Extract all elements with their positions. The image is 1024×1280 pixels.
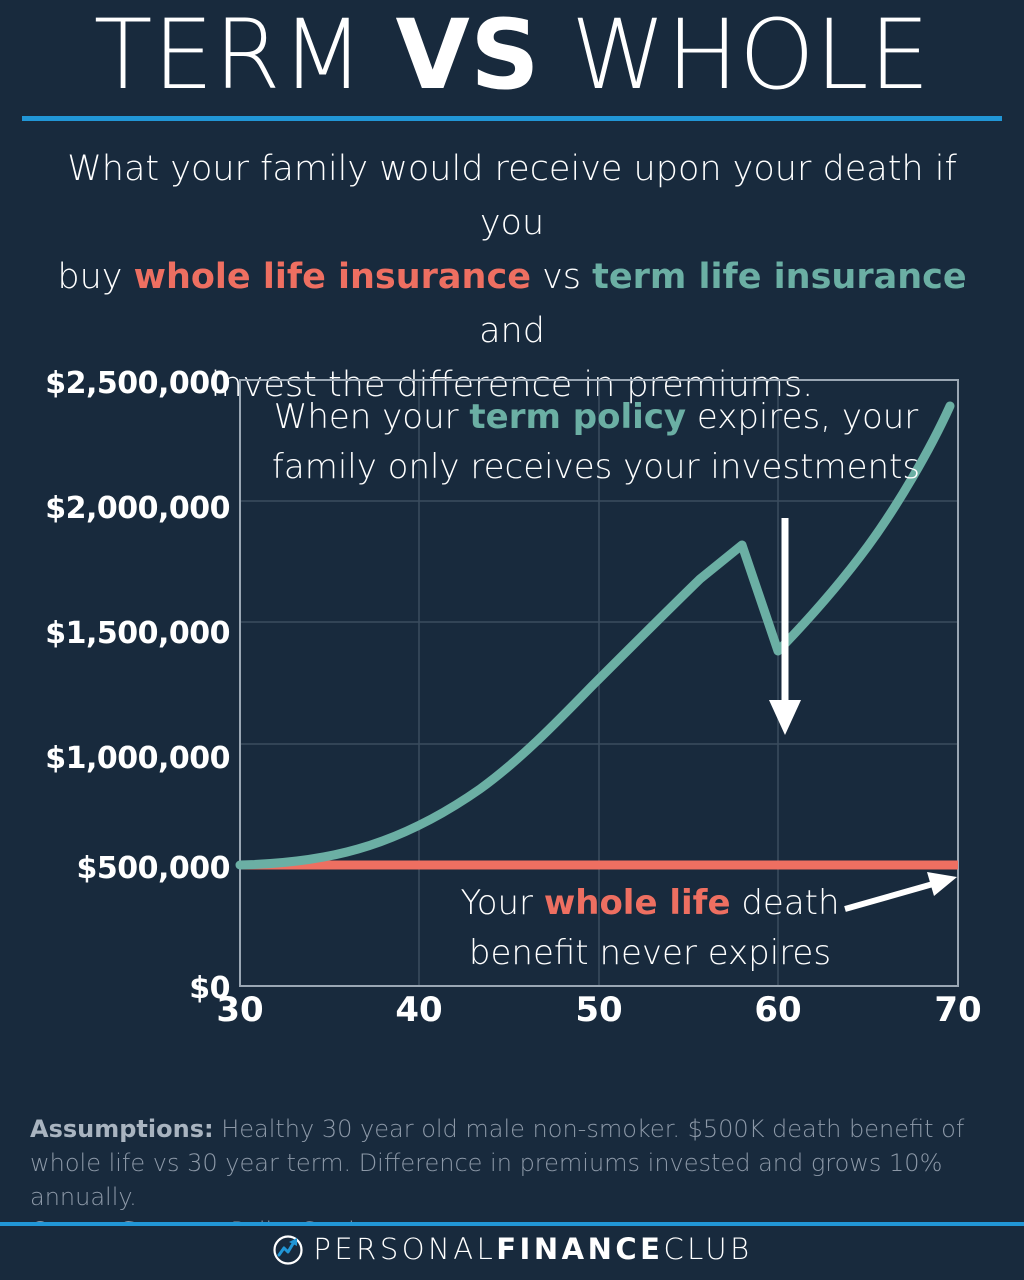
annotation-whole-life: Your whole life death benefit never expi…: [440, 878, 860, 978]
brand-logo: PERSONALFINANCECLUB: [0, 1232, 1024, 1266]
x-tick-30: 30: [195, 990, 285, 1030]
anno-top-term-policy: term policy: [469, 397, 686, 437]
brand-finance: FINANCE: [496, 1232, 663, 1266]
x-tick-70: 70: [913, 990, 1003, 1030]
chart: $2,500,000 $2,000,000 $1,500,000 $1,000,…: [0, 360, 1024, 1040]
title-whole: WHOLE: [540, 0, 930, 111]
x-tick-40: 40: [374, 990, 464, 1030]
assumptions-label: Assumptions:: [30, 1115, 214, 1143]
annotation-term-expiry: When your term policy expires, your fami…: [246, 392, 946, 492]
anno-bottom-a: Your: [460, 883, 543, 923]
x-tick-50: 50: [554, 990, 644, 1030]
anno-bottom-line2: benefit never expires: [469, 933, 831, 973]
subtitle-whole-life: whole life insurance: [134, 257, 531, 297]
infographic-root: TERM VS WHOLE What your family would rec…: [0, 0, 1024, 1280]
brand-club: CLUB: [663, 1232, 752, 1266]
chart-circle-icon: [271, 1232, 305, 1266]
brand-personal: PERSONAL: [313, 1232, 496, 1266]
anno-bottom-b: death: [731, 883, 840, 923]
x-tick-60: 60: [733, 990, 823, 1030]
anno-top-b: expires, your: [686, 397, 918, 437]
header: TERM VS WHOLE: [0, 0, 1024, 130]
subtitle-line2-b: vs: [531, 257, 592, 297]
title-vs: VS: [396, 0, 540, 111]
whole-life-arrow-icon: [845, 872, 957, 909]
title-divider: [22, 116, 1002, 121]
page-title: TERM VS WHOLE: [0, 0, 1024, 115]
subtitle-line2-c: and: [479, 311, 545, 351]
anno-top-line2: family only receives your investments: [272, 447, 920, 487]
subtitle-term-life: term life insurance: [592, 257, 966, 297]
subtitle-line2-a: buy: [57, 257, 133, 297]
brand-text: PERSONALFINANCECLUB: [313, 1232, 752, 1266]
anno-bottom-whole-life: whole life: [544, 883, 731, 923]
subtitle-line1: What your family would receive upon your…: [67, 149, 957, 243]
anno-top-a: When your: [274, 397, 470, 437]
title-term: TERM: [94, 0, 396, 111]
